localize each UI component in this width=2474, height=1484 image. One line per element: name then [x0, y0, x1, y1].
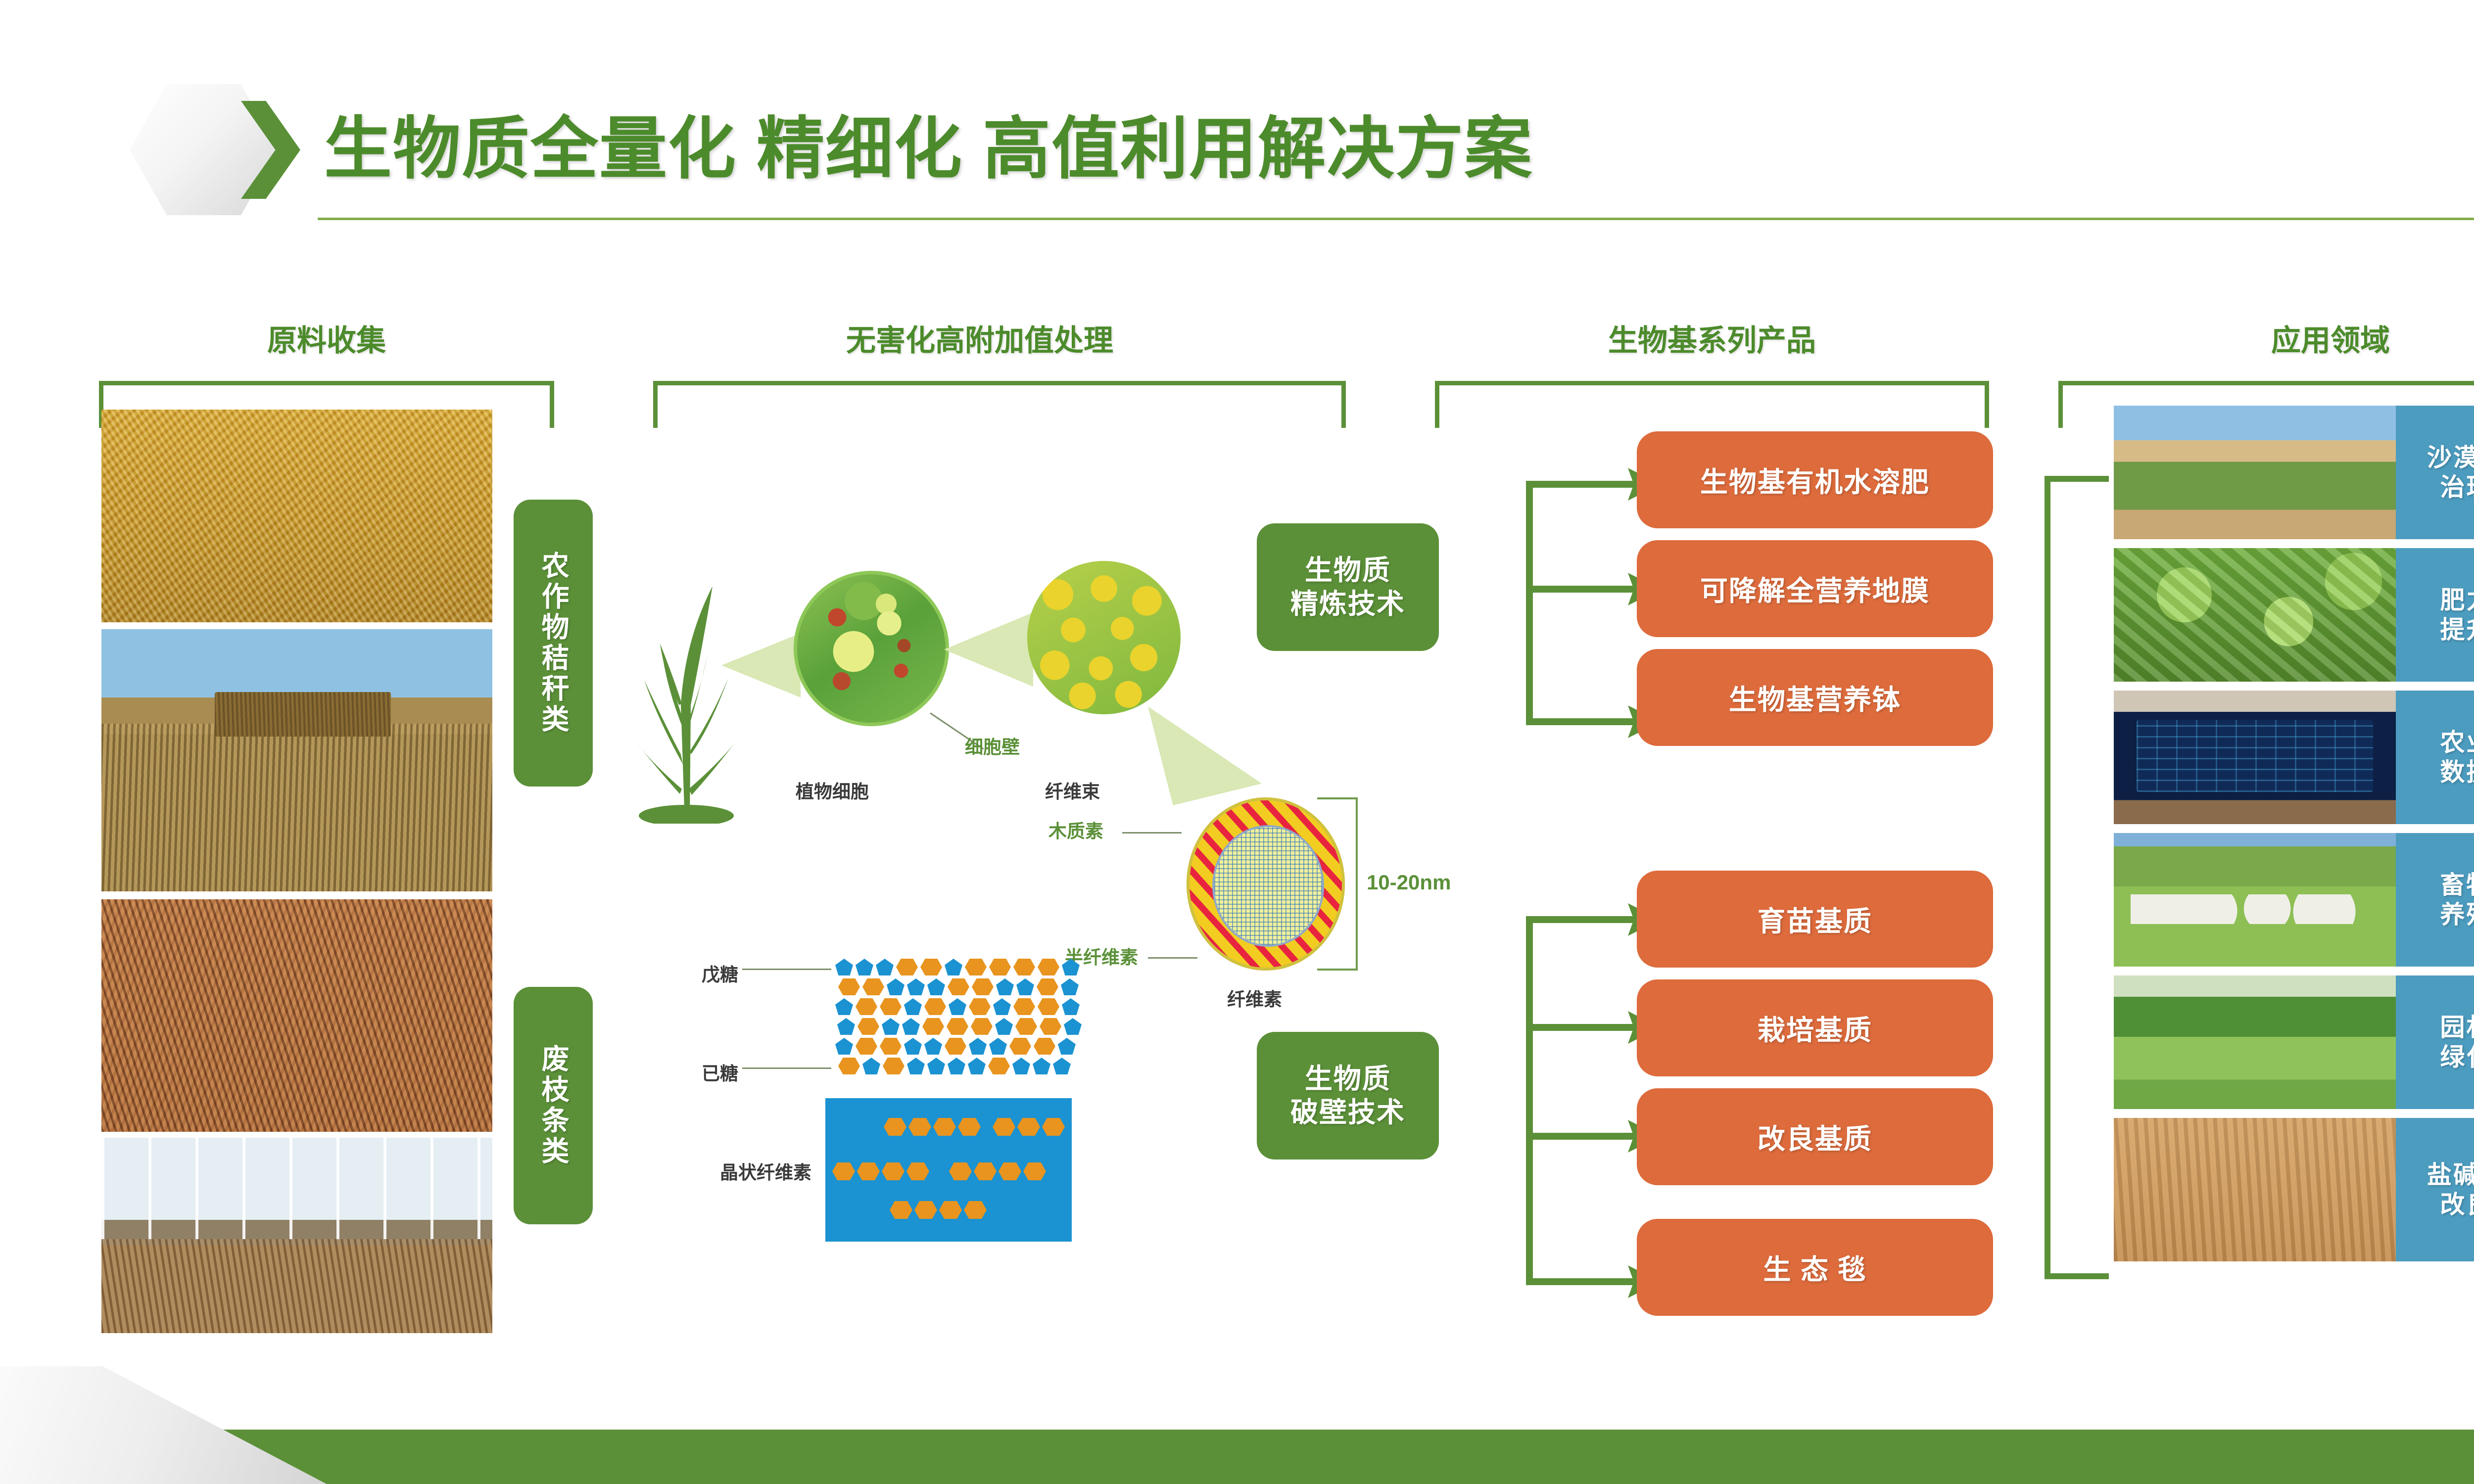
pentose-unit [907, 978, 925, 995]
pentose-unit [904, 1038, 922, 1055]
application-line-1: 盐碱地 [2427, 1160, 2474, 1190]
bracket-bio-based-products [1435, 381, 1989, 428]
hexose-unit [896, 959, 918, 975]
application-tag-landscaping: 园林 绿化 [2396, 975, 2474, 1109]
hexose-unit [856, 998, 877, 1015]
section-header-raw-material-collection: 原料收集 [163, 317, 490, 360]
pentose-unit [882, 1018, 900, 1035]
hexose-unit [920, 959, 942, 975]
pentose-unit [1062, 959, 1080, 975]
label-hexose: 已糖 [702, 1059, 738, 1085]
hexose-unit [883, 1058, 904, 1074]
hexose-unit [988, 1058, 1010, 1074]
hexose-unit [880, 1038, 902, 1055]
hexose-unit [974, 1162, 997, 1180]
hexose-unit [1038, 998, 1059, 1015]
hexose-unit [947, 1018, 968, 1035]
bracket-products-to-applications [2045, 476, 2109, 1279]
hexose-unit [906, 1162, 929, 1180]
application-line-1: 肥力 [2440, 585, 2474, 615]
hexose-unit [958, 1118, 981, 1136]
hexose-unit [1013, 998, 1035, 1015]
connector-arm-refining-1 [1526, 481, 1640, 488]
leader-line-hemicellulose [1148, 957, 1197, 959]
tech-box-biomass-refining[interactable]: 生物质 精炼技术 [1257, 523, 1439, 651]
hexose-unit [884, 1118, 906, 1136]
pentose-unit [993, 998, 1011, 1015]
application-row-saline-alkali[interactable]: 盐碱地 改良 [2114, 1118, 2474, 1261]
photo-landscape-greening-park [2114, 975, 2396, 1109]
bottom-wedge-decoration [0, 1366, 327, 1484]
leader-line-lignin [1122, 832, 1182, 834]
label-cell-wall: 细胞壁 [965, 732, 1020, 759]
pentose-unit [969, 1038, 987, 1055]
pentose-unit [1012, 1058, 1030, 1074]
hexose-unit [838, 978, 860, 995]
photo-cabbage-field [2114, 548, 2396, 682]
tech-line-2: 精炼技术 [1290, 587, 1405, 621]
connector-arm-refining-3 [1526, 718, 1640, 725]
hexose-unit [856, 1038, 877, 1055]
hexose-unit [965, 959, 987, 975]
plant-cell-illustration [794, 571, 949, 726]
connector-arm-wb-1 [1526, 916, 1640, 923]
hexose-unit [857, 1018, 879, 1035]
application-line-1: 沙漠化 [2427, 443, 2474, 472]
hexose-unit [949, 1162, 972, 1180]
hexose-unit [1015, 1018, 1037, 1035]
hexose-unit [914, 1201, 937, 1219]
pentose-unit [996, 978, 1014, 995]
product-box-improvement-substrate[interactable]: 改良基质 [1637, 1088, 1993, 1185]
fiber-bundle-illustration [1027, 561, 1181, 714]
pentose-unit [835, 959, 853, 975]
pentose-unit [989, 1038, 1007, 1055]
hexose-unit [862, 978, 884, 995]
photo-desertification-control-site [2114, 406, 2396, 539]
connector-spine-refining [1526, 481, 1533, 725]
connector-arm-wb-2 [1526, 1024, 1640, 1031]
connector-arm-refining-2 [1526, 586, 1640, 593]
hexose-unit [1034, 1038, 1055, 1055]
application-line-1: 农业 [2440, 728, 2474, 757]
hexose-unit [971, 1018, 993, 1035]
photo-corn-stover-field [101, 410, 492, 622]
rice-plant-icon [629, 556, 743, 824]
application-line-1: 畜牧 [2440, 870, 2474, 900]
hexose-unit [1013, 959, 1035, 975]
hexose-unit [999, 1162, 1021, 1180]
application-tag-livestock: 畜牧 养殖 [2396, 833, 2474, 967]
slide-canvas: 生物质全量化 精细化 高值利用解决方案 原料收集 无害化高附加值处理 生物基系列… [0, 0, 2474, 1484]
category-label-waste-branches: 废枝条类 [514, 987, 593, 1224]
label-pentose: 戊糖 [702, 960, 738, 986]
pentose-unit [876, 959, 894, 975]
hexose-unit [945, 1038, 966, 1055]
photo-agriculture-data-control-room [2114, 691, 2396, 824]
section-header-application-fields: 应用领域 [2118, 317, 2474, 360]
pentose-unit [1061, 978, 1079, 995]
dimension-tick-bottom [1317, 969, 1358, 971]
pentose-unit [837, 1018, 855, 1035]
application-line-2: 提升 [2440, 615, 2474, 645]
pentose-unit [927, 978, 945, 995]
tech-box-biomass-wall-breaking[interactable]: 生物质 破壁技术 [1257, 1032, 1439, 1159]
label-lignin: 木质素 [1048, 816, 1103, 843]
title-underline-divider [318, 218, 2474, 220]
pentose-unit [948, 1058, 965, 1074]
hexose-unit [964, 1201, 987, 1219]
connector-arm-wb-4 [1526, 1278, 1640, 1285]
pentose-unit [1033, 1058, 1050, 1074]
hexose-unit [993, 1118, 1015, 1136]
leader-line-pentose [742, 969, 831, 970]
pentose-unit [856, 959, 873, 975]
application-line-2: 数据 [2440, 757, 2474, 787]
photo-sheep-grazing-pasture [2114, 833, 2396, 967]
pentose-unit [835, 998, 853, 1015]
dimension-line-vertical [1356, 797, 1358, 971]
crystalline-cellulose-illustration [825, 1098, 1072, 1242]
hexose-unit [989, 959, 1011, 975]
connector-arm-wb-3 [1526, 1133, 1640, 1140]
label-crystalline-cellulose: 晶状纤维素 [720, 1158, 811, 1184]
pentose-unit [945, 959, 962, 975]
pentose-unit [968, 1058, 986, 1074]
application-line-2: 治理 [2440, 472, 2474, 502]
pentose-unit [927, 1058, 945, 1074]
application-row-desertification[interactable]: 沙漠化 治理 [2114, 406, 2474, 539]
application-row-fertility[interactable]: 肥力 提升 [2114, 548, 2474, 682]
application-tag-saline-alkali: 盐碱地 改良 [2396, 1118, 2474, 1261]
hexose-unit [924, 998, 946, 1015]
product-box-bio-based-nutrient-pot[interactable]: 生物基营养钵 [1637, 649, 1993, 746]
category-label-crop-straw: 农作物秸秆类 [514, 500, 593, 787]
connector-spine-wall-breaking [1526, 916, 1533, 1285]
product-box-cultivation-substrate[interactable]: 栽培基质 [1637, 979, 1993, 1076]
application-line-2: 绿化 [2440, 1042, 2474, 1072]
pentose-unit [835, 1038, 853, 1055]
pentose-unit [1016, 978, 1034, 995]
pentose-unit [907, 1058, 925, 1074]
hexose-unit [832, 1162, 855, 1180]
pentose-unit [1053, 1058, 1071, 1074]
product-box-degradable-full-nutrient-mulch-film[interactable]: 可降解全营养地膜 [1637, 540, 1993, 637]
application-line-2: 改良 [2440, 1190, 2474, 1219]
product-box-seedling-substrate[interactable]: 育苗基质 [1637, 871, 1993, 968]
hexose-unit [1009, 1038, 1031, 1055]
bottom-green-bar [0, 1430, 2474, 1484]
photo-straw-bale-field [101, 629, 492, 891]
page-title: 生物质全量化 精细化 高值利用解决方案 [324, 94, 1533, 192]
dimension-tick-top [1317, 797, 1358, 799]
pentose-unit [887, 978, 904, 995]
hexose-unit [1042, 1118, 1065, 1136]
application-tag-fertility: 肥力 提升 [2396, 548, 2474, 682]
hexose-unit [1017, 1118, 1040, 1136]
leader-line-hexose [742, 1067, 831, 1069]
section-header-harmless-processing: 无害化高附加值处理 [693, 317, 1267, 360]
pentose-unit [995, 1018, 1013, 1035]
hexose-unit [1023, 1162, 1046, 1180]
label-cellulose: 纤维素 [1227, 984, 1282, 1011]
application-line-1: 园林 [2440, 1013, 2474, 1042]
hexose-unit [972, 978, 994, 995]
product-box-bio-organic-water-soluble-fertilizer[interactable]: 生物基有机水溶肥 [1637, 431, 1993, 528]
label-dimension-10-20nm: 10-20nm [1367, 871, 1451, 894]
section-header-bio-based-products: 生物基系列产品 [1420, 317, 2004, 360]
hexose-unit [1038, 959, 1059, 975]
application-tag-desertification: 沙漠化 治理 [2396, 406, 2474, 539]
hexose-unit [1040, 1018, 1061, 1035]
pentose-unit [862, 1058, 880, 1074]
hexose-unit [922, 1018, 944, 1035]
application-tag-agriculture-data: 农业 数据 [2396, 691, 2474, 824]
hexose-unit [882, 1162, 904, 1180]
pentose-unit [902, 1018, 920, 1035]
photo-vineyard-pruning-site [101, 1138, 492, 1333]
pentose-unit [1064, 1018, 1082, 1035]
bracket-harmless-processing [653, 381, 1346, 428]
product-box-ecological-blanket[interactable]: 生 态 毯 [1637, 1219, 1993, 1316]
pentose-unit [1062, 998, 1080, 1015]
pentose-unit [949, 998, 966, 1015]
hexose-unit [880, 998, 902, 1015]
pentose-unit [1058, 1038, 1076, 1055]
tech-line-2: 破壁技术 [1290, 1096, 1405, 1129]
hexose-unit [969, 998, 991, 1015]
magnify-cone-cell-to-fiber [944, 612, 1033, 687]
hexose-unit [857, 1162, 880, 1180]
hexose-unit [838, 1058, 860, 1074]
pentose-unit [904, 998, 922, 1015]
application-row-livestock[interactable]: 畜牧 养殖 [2114, 833, 2474, 967]
pentose-unit [924, 1038, 942, 1055]
hexose-unit [908, 1118, 931, 1136]
tech-line-1: 生物质 [1305, 554, 1391, 587]
application-row-landscaping[interactable]: 园林 绿化 [2114, 975, 2474, 1109]
photo-pruned-branches-pile [101, 899, 492, 1132]
cellulose-core-lattice [1212, 825, 1324, 947]
tech-line-1: 生物质 [1305, 1062, 1391, 1096]
application-line-2: 养殖 [2440, 900, 2474, 929]
sugar-chain-diagram [835, 959, 1102, 1082]
label-plant-cell: 植物细胞 [796, 777, 869, 803]
photo-saline-alkali-land [2114, 1118, 2396, 1261]
hexose-unit [939, 1201, 962, 1219]
hexose-unit [1037, 978, 1058, 995]
label-fiber-bundle: 纤维束 [1045, 777, 1100, 803]
application-row-agriculture-data[interactable]: 农业 数据 [2114, 691, 2474, 824]
hexose-unit [890, 1201, 912, 1219]
hexose-unit [948, 978, 969, 995]
hexose-unit [933, 1118, 956, 1136]
magnify-cone-fiber-to-cellulose [1148, 706, 1262, 805]
